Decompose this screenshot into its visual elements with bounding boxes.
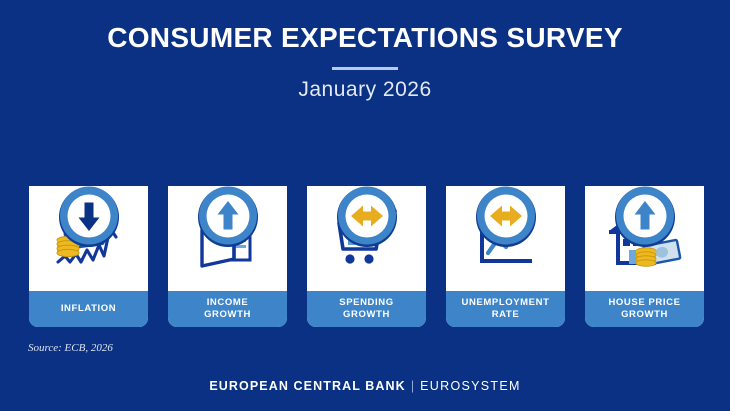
card-label-unemployment-rate: UNEMPLOYMENTRATE	[446, 291, 565, 327]
indicator-card-inflation[interactable]: INFLATION	[29, 186, 148, 327]
infographic-canvas: CONSUMER EXPECTATIONS SURVEY January 202…	[0, 0, 730, 411]
arrow-left-right-icon	[336, 186, 398, 248]
label-line: RATE	[492, 309, 520, 320]
direction-badge-unemployment-rate[interactable]	[475, 186, 537, 248]
arrow-down-icon	[58, 186, 120, 248]
label-line: GROWTH	[204, 309, 251, 320]
card-label-inflation: INFLATION	[29, 291, 148, 327]
card-label-spending-growth: SPENDINGGROWTH	[307, 291, 426, 327]
label-line: INCOME	[207, 297, 249, 308]
indicator-card-row: INFLATION	[0, 133, 730, 333]
direction-badge-inflation[interactable]	[58, 186, 120, 248]
ecb-logo-bold: EUROPEAN CENTRAL BANK	[209, 379, 406, 393]
indicator-card-income-growth[interactable]: INCOMEGROWTH	[168, 186, 287, 327]
arrow-left-right-icon	[475, 186, 537, 248]
page-subtitle: January 2026	[0, 78, 730, 102]
direction-badge-house-price-growth[interactable]	[614, 186, 676, 248]
label-line: INFLATION	[61, 303, 116, 315]
title-divider	[332, 67, 398, 70]
card-label-income-growth: INCOMEGROWTH	[168, 291, 287, 327]
direction-badge-income-growth[interactable]	[197, 186, 259, 248]
indicator-card-spending-growth[interactable]: SPENDINGGROWTH	[307, 186, 426, 327]
ecb-logo-separator: |	[411, 379, 415, 393]
label-line: UNEMPLOYMENT	[462, 297, 550, 308]
coin-stack-icon	[636, 247, 656, 266]
arrow-up-icon	[197, 186, 259, 248]
page-title: CONSUMER EXPECTATIONS SURVEY	[0, 22, 730, 54]
source-note: Source: ECB, 2026	[28, 342, 113, 354]
indicator-card-unemployment-rate[interactable]: UNEMPLOYMENTRATE	[446, 186, 565, 327]
label-line: GROWTH	[621, 309, 668, 320]
direction-badge-spending-growth[interactable]	[336, 186, 398, 248]
label-line: SPENDING	[339, 297, 393, 308]
ecb-logo-thin: EUROSYSTEM	[420, 379, 521, 393]
card-label-house-price-growth: HOUSE PRICEGROWTH	[585, 291, 704, 327]
label-line: HOUSE PRICE	[608, 297, 680, 308]
label-line: GROWTH	[343, 309, 390, 320]
arrow-up-icon	[614, 186, 676, 248]
indicator-card-house-price-growth[interactable]: HOUSE PRICEGROWTH	[585, 186, 704, 327]
ecb-logo: EUROPEAN CENTRAL BANK|EUROSYSTEM	[0, 379, 730, 393]
